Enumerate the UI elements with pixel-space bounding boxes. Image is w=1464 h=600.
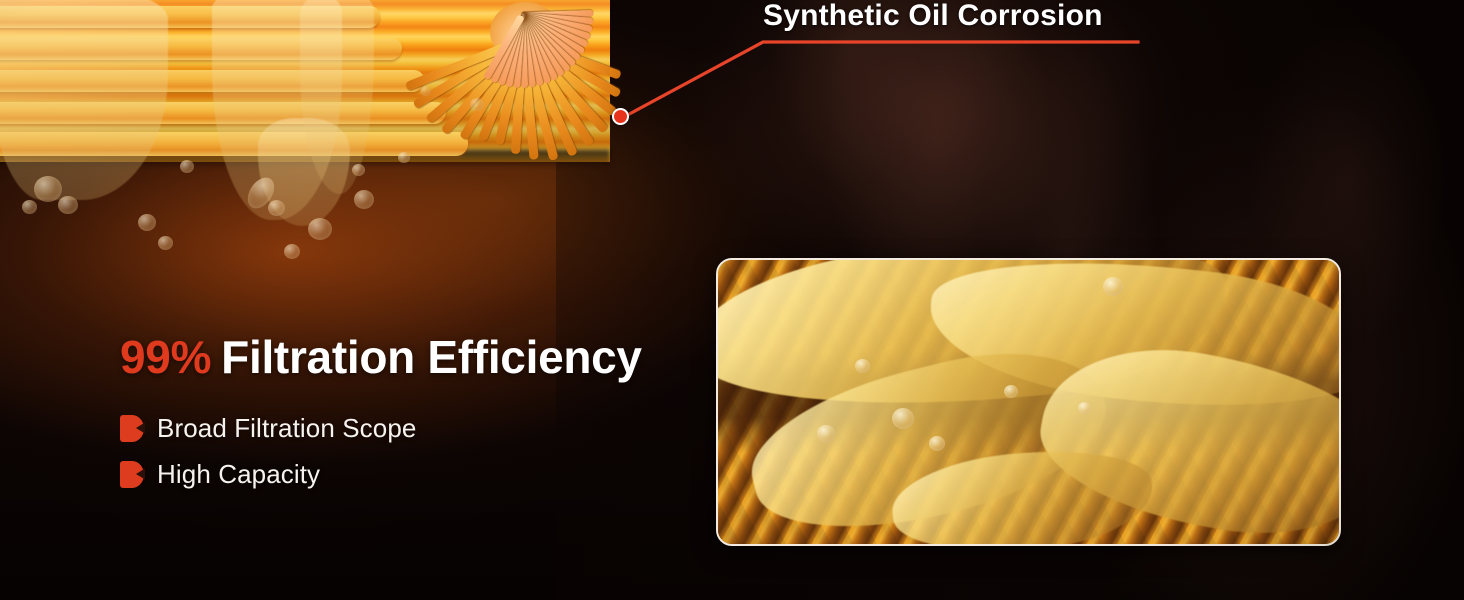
bullet-marker-icon: [120, 415, 144, 442]
list-item: High Capacity: [120, 451, 416, 497]
oil-droplet: [470, 98, 484, 111]
oil-droplet: [420, 86, 431, 96]
inset-vignette: [718, 260, 1339, 544]
efficiency-label: Filtration Efficiency: [221, 331, 642, 383]
callout-title: Synthetic Oil Corrosion: [763, 0, 1103, 33]
oil-droplet: [354, 190, 374, 209]
inset-photo: [716, 258, 1341, 546]
oil-droplet: [58, 196, 78, 214]
list-item: Broad Filtration Scope: [120, 405, 416, 451]
feature-label: Broad Filtration Scope: [157, 413, 416, 444]
page-title: 99%Filtration Efficiency: [120, 330, 642, 384]
product-banner: Synthetic Oil Corrosion 99%Filtration Ef…: [0, 0, 1464, 600]
efficiency-percent: 99%: [120, 331, 211, 383]
oil-droplet: [268, 200, 285, 216]
feature-list: Broad Filtration Scope High Capacity: [120, 405, 416, 497]
oil-droplet: [158, 236, 173, 250]
oil-droplet: [180, 160, 194, 173]
oil-droplet: [138, 214, 156, 231]
oil-droplet: [352, 164, 365, 176]
feature-label: High Capacity: [157, 459, 320, 490]
oil-droplet: [22, 200, 37, 214]
bullet-marker-icon: [120, 461, 144, 488]
filter-pleat-fan: [370, 0, 670, 170]
oil-droplet: [308, 218, 332, 240]
oil-droplet: [398, 152, 410, 163]
callout-anchor-dot: [612, 108, 629, 125]
oil-droplet: [284, 244, 300, 259]
oil-droplet: [34, 176, 62, 202]
